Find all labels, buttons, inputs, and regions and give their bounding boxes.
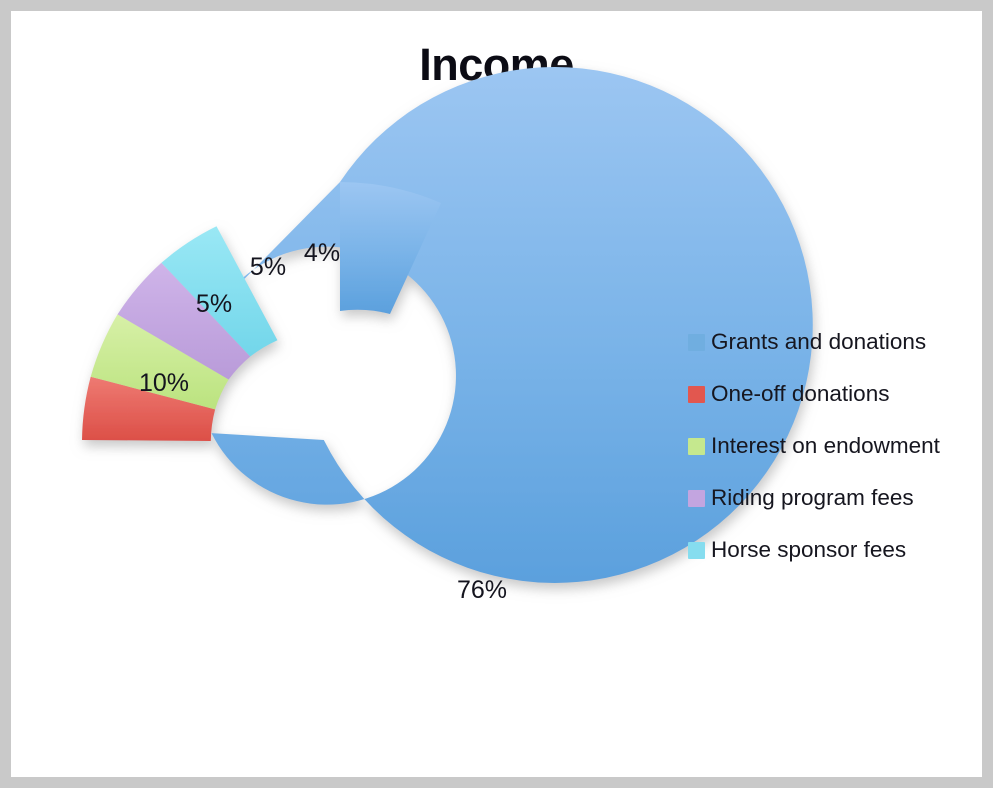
slice-label-interest-on-endowment: 5% xyxy=(196,290,232,318)
legend-item-label: One-off donations xyxy=(711,381,889,407)
legend-item-horse-sponsor-fees[interactable]: Horse sponsor fees xyxy=(688,524,978,576)
legend-swatch-icon xyxy=(688,438,705,455)
chart-canvas: Income xyxy=(11,11,982,777)
legend-item-grants-and-donations[interactable]: Grants and donations xyxy=(688,316,978,368)
chart-legend: Grants and donations One-off donations I… xyxy=(688,316,978,576)
legend-item-label: Grants and donations xyxy=(711,329,926,355)
legend-item-label: Interest on endowment xyxy=(711,433,940,459)
slice-label-grants-and-donations: 76% xyxy=(457,576,507,604)
legend-item-riding-program-fees[interactable]: Riding program fees xyxy=(688,472,978,524)
slice-label-one-off-donations: 10% xyxy=(139,369,189,397)
chart-frame: Income xyxy=(0,0,993,788)
legend-item-label: Riding program fees xyxy=(711,485,914,511)
legend-item-one-off-donations[interactable]: One-off donations xyxy=(688,368,978,420)
slice-label-horse-sponsor-fees: 4% xyxy=(304,239,340,267)
legend-swatch-icon xyxy=(688,386,705,403)
legend-swatch-icon xyxy=(688,334,705,351)
slice-label-riding-program-fees: 5% xyxy=(250,253,286,281)
legend-item-interest-on-endowment[interactable]: Interest on endowment xyxy=(688,420,978,472)
legend-swatch-icon xyxy=(688,542,705,559)
legend-swatch-icon xyxy=(688,490,705,507)
legend-item-label: Horse sponsor fees xyxy=(711,537,906,563)
